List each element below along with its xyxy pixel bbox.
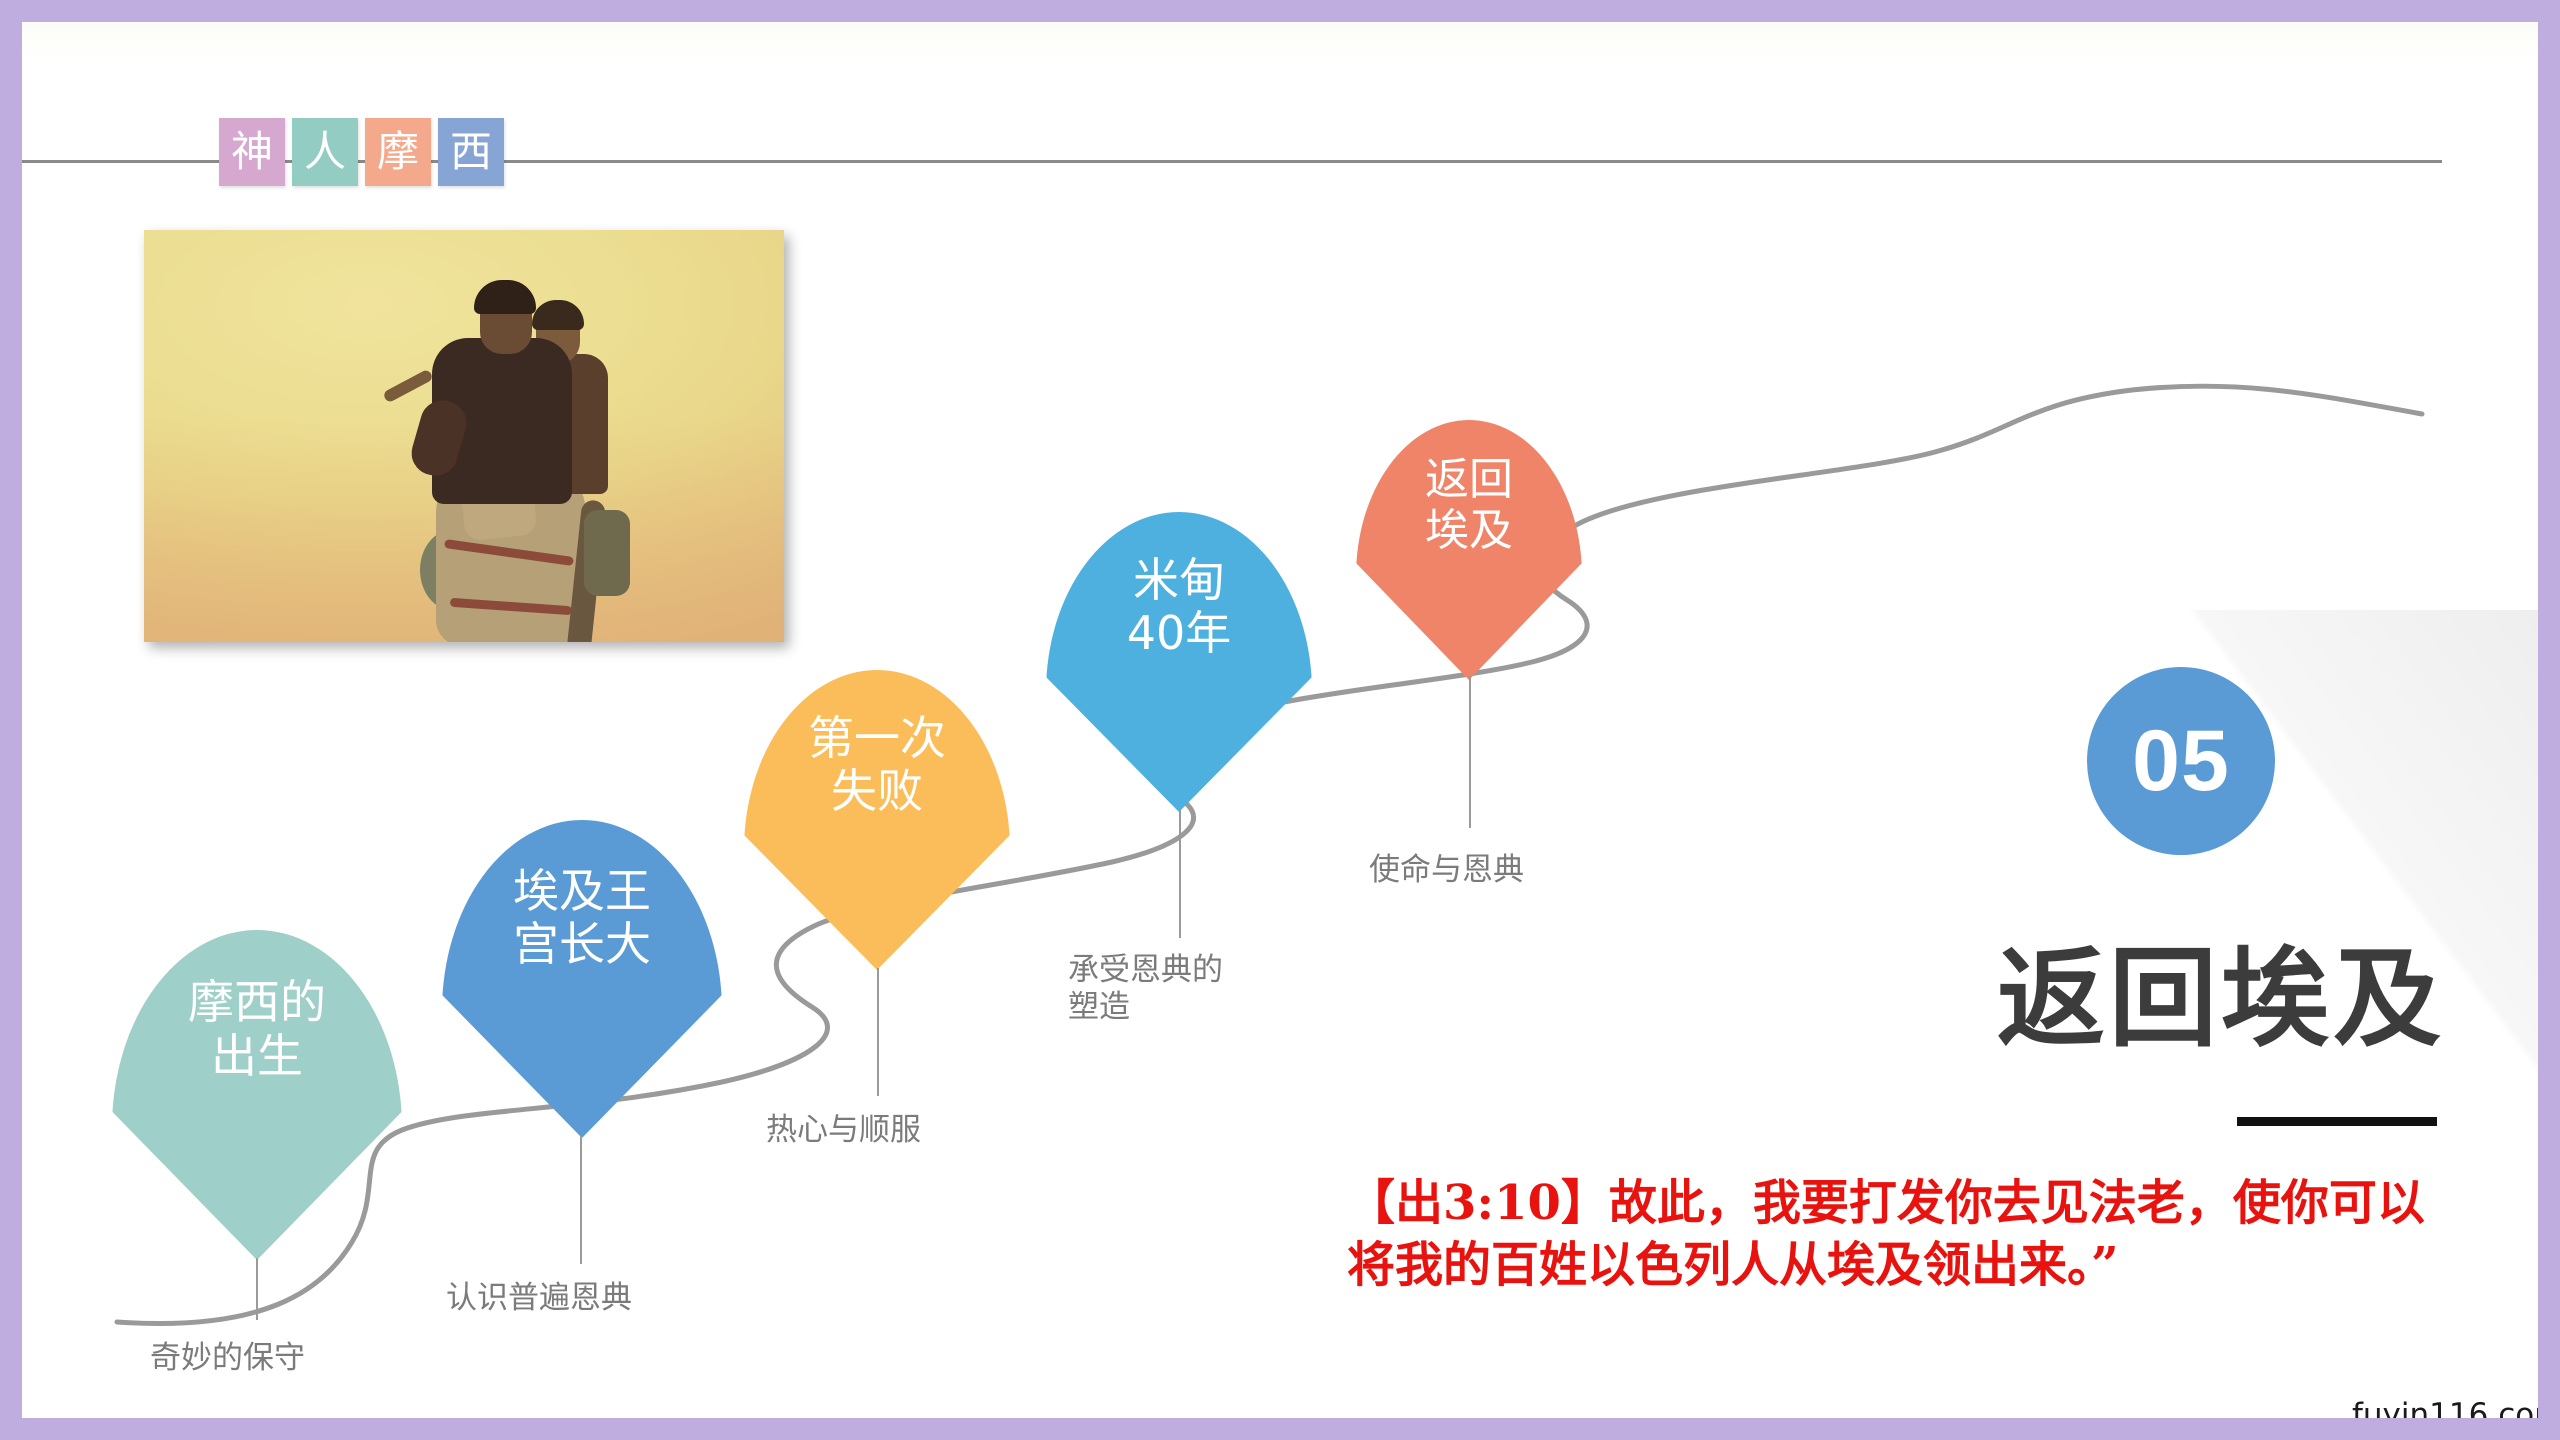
- moses-illustration-image: [144, 230, 784, 642]
- pin-3-stem: [877, 968, 879, 1096]
- site-watermark: fuyin116.com: [2352, 1397, 2538, 1418]
- title-tile-1: 神: [219, 118, 285, 186]
- section-title: 返回埃及: [1997, 912, 2445, 1068]
- pin-2-stem: [580, 1136, 582, 1264]
- series-title-tiles: 神 人 摩 西: [219, 118, 504, 186]
- pin-1-stem: [256, 1258, 258, 1320]
- pin-5-stem: [1469, 676, 1471, 828]
- title-tile-2: 人: [292, 118, 358, 186]
- title-tile-4: 西: [438, 118, 504, 186]
- pin-3-label: 第一次 失败: [744, 712, 1010, 819]
- timeline-pin-1[interactable]: 摩西的 出生: [112, 930, 402, 1260]
- pin-4-label: 米甸 40年: [1046, 554, 1312, 661]
- pin-2-caption: 认识普遍恩典: [446, 1280, 632, 1317]
- timeline-pin-5[interactable]: 返回 埃及: [1356, 420, 1582, 680]
- timeline-pin-2[interactable]: 埃及王 宫长大: [442, 820, 722, 1138]
- pin-2-label: 埃及王 宫长大: [442, 865, 722, 972]
- timeline-pin-4[interactable]: 米甸 40年: [1046, 512, 1312, 812]
- section-number-badge: 05: [2087, 667, 2275, 855]
- pin-1-label: 摩西的 出生: [112, 976, 402, 1083]
- pin-4-stem: [1179, 810, 1181, 938]
- scripture-verse: 【出3:10】故此，我要打发你去见法老，使你可以将我的百姓以色列人从埃及领出来。…: [1347, 1172, 2467, 1297]
- pin-4-caption: 承受恩典的 塑造: [1068, 952, 1223, 1026]
- pin-5-caption: 使命与恩典: [1369, 852, 1524, 889]
- pin-5-label: 返回 埃及: [1356, 454, 1582, 556]
- slide-canvas: 神 人 摩 西 摩西的 出生 奇妙的保守 埃及王 宫长大 认识普: [22, 22, 2538, 1418]
- title-underline-bar: [2237, 1117, 2437, 1126]
- title-tile-3: 摩: [365, 118, 431, 186]
- timeline-pin-3[interactable]: 第一次 失败: [744, 670, 1010, 970]
- photo-luggage: [584, 510, 630, 596]
- pin-1-caption: 奇妙的保守: [150, 1340, 305, 1377]
- pin-3-caption: 热心与顺服: [766, 1112, 921, 1149]
